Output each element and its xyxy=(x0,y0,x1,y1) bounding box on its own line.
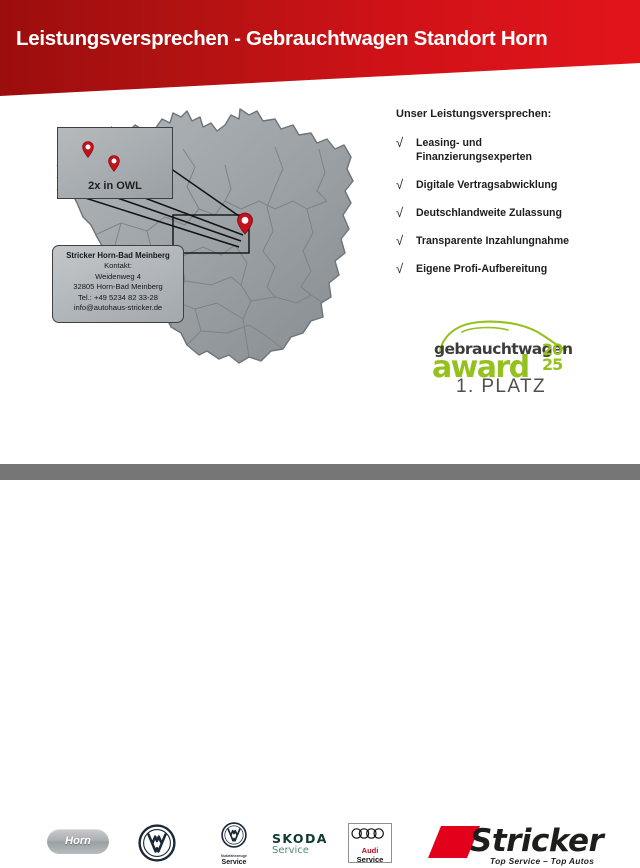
logo-bar: Horn Nutzfahrzeuge Service SKODA Service xyxy=(0,406,640,464)
check-icon: √ xyxy=(396,234,416,247)
owl-inset-box: 2x in OWL xyxy=(57,127,173,199)
audi-logo: Audi Service xyxy=(348,823,392,863)
promise-item-label: Transparente Inzahlungnahme xyxy=(416,234,569,248)
vw-nutzfahrzeuge-line2: Service xyxy=(203,859,265,866)
promise-item-label: Digitale Vertragsabwicklung xyxy=(416,178,557,192)
check-icon: √ xyxy=(396,178,416,191)
horn-logo: Horn xyxy=(47,829,109,854)
stricker-logo-tagline: Top Service – Top Autos xyxy=(490,856,594,866)
inset-label: 2x in OWL xyxy=(58,180,172,192)
address-phone: Tel.: +49 5234 82 33-28 xyxy=(57,293,179,303)
slide-root: Leistungsversprechen - Gebrauchtwagen St… xyxy=(0,0,640,480)
volkswagen-logo-icon xyxy=(138,824,176,862)
skoda-logo-sub: Service xyxy=(272,845,328,856)
address-city: 32805 Horn-Bad Meinberg xyxy=(57,282,179,292)
promise-item: √ Transparente Inzahlungnahme xyxy=(396,234,630,248)
promise-list: Unser Leistungsversprechen: √ Leasing- u… xyxy=(396,108,630,290)
award-rank: 1. PLATZ xyxy=(456,376,546,398)
address-contact-label: Kontakt: xyxy=(57,261,179,271)
audi-logo-sub: Service xyxy=(349,855,391,864)
promise-item-label: Deutschlandweite Zulassung xyxy=(416,206,562,220)
inset-pin-1 xyxy=(82,141,94,158)
vw-nutzfahrzeuge-line1: Nutzfahrzeuge xyxy=(203,854,265,858)
promise-title: Unser Leistungsversprechen: xyxy=(396,108,630,120)
stricker-logo-name: Stricker xyxy=(470,823,603,859)
footer-bar xyxy=(0,464,640,480)
audi-logo-name: Audi xyxy=(349,846,391,855)
skoda-logo: SKODA Service xyxy=(272,831,328,856)
promise-item: √ Eigene Profi-Aufbereitung xyxy=(396,262,630,276)
address-email: info@autohaus-stricker.de xyxy=(57,303,179,313)
promise-item-label: Leasing- und Finanzierungsexperten xyxy=(416,136,532,164)
award-badge: gebrauchtwagen award 20 25 1. PLATZ xyxy=(424,316,574,398)
award-year: 20 25 xyxy=(542,342,562,372)
award-year-bottom: 25 xyxy=(542,357,562,372)
audi-rings-icon xyxy=(350,827,390,840)
stricker-logo: Stricker Top Service – Top Autos xyxy=(428,820,618,868)
promise-item: √ Deutschlandweite Zulassung xyxy=(396,206,630,220)
skoda-logo-name: SKODA xyxy=(272,831,328,846)
check-icon: √ xyxy=(396,206,416,219)
check-icon: √ xyxy=(396,262,416,275)
promise-item-label: Eigene Profi-Aufbereitung xyxy=(416,262,547,276)
vw-nutzfahrzeuge-logo: Nutzfahrzeuge Service xyxy=(203,822,265,866)
promise-item: √ Digitale Vertragsabwicklung xyxy=(396,178,630,192)
address-box: Stricker Horn-Bad Meinberg Kontakt: Weid… xyxy=(52,245,184,323)
inset-pin-2 xyxy=(108,155,120,172)
page-title: Leistungsversprechen - Gebrauchtwagen St… xyxy=(16,27,630,51)
promise-item: √ Leasing- und Finanzierungsexperten xyxy=(396,136,630,164)
address-street: Weidenweg 4 xyxy=(57,272,179,282)
address-name: Stricker Horn-Bad Meinberg xyxy=(57,251,179,261)
check-icon: √ xyxy=(396,136,416,149)
horn-logo-label: Horn xyxy=(47,835,109,847)
vw-nutzfahrzeuge-icon xyxy=(221,822,247,848)
